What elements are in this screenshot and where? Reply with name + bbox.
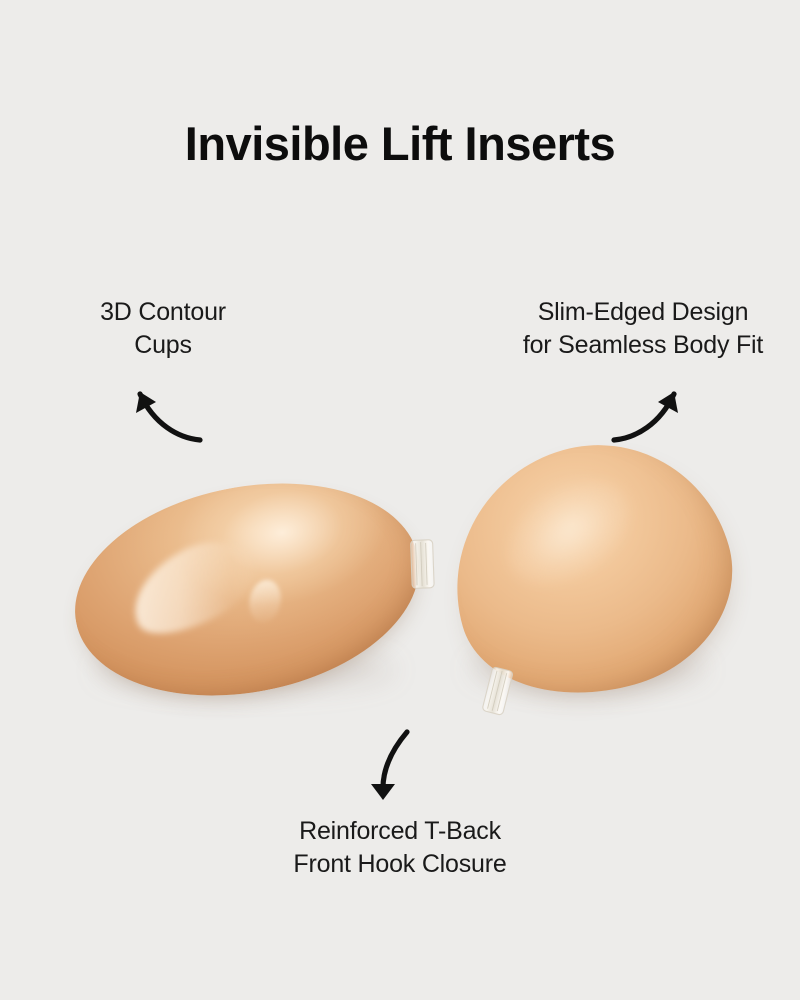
callout-contour-cups-line1: 3D Contour <box>28 296 298 329</box>
callout-slim-edged-line1: Slim-Edged Design <box>490 296 796 329</box>
left-cup-front-hook-clasp <box>406 537 438 592</box>
curved-arrow-up-right-icon <box>602 368 702 459</box>
callout-contour-cups: 3D Contour Cups <box>28 296 298 362</box>
right-cup-body <box>424 413 759 725</box>
callout-t-back-hook-line2: Front Hook Closure <box>245 848 555 881</box>
curved-arrow-up-left-icon <box>112 368 212 459</box>
product-infographic: Invisible Lift Inserts <box>0 0 800 1000</box>
callout-t-back-hook-line1: Reinforced T-Back <box>245 815 555 848</box>
callout-contour-cups-line2: Cups <box>28 329 298 362</box>
callout-slim-edged-line2: for Seamless Body Fit <box>490 329 796 362</box>
curved-arrow-down-icon <box>352 722 442 815</box>
right-cup <box>424 413 759 725</box>
callout-t-back-hook: Reinforced T-Back Front Hook Closure <box>245 815 555 881</box>
callout-slim-edged: Slim-Edged Design for Seamless Body Fit <box>490 296 796 362</box>
right-cup-front-hook-clasp <box>478 664 516 719</box>
left-cup <box>57 456 438 724</box>
